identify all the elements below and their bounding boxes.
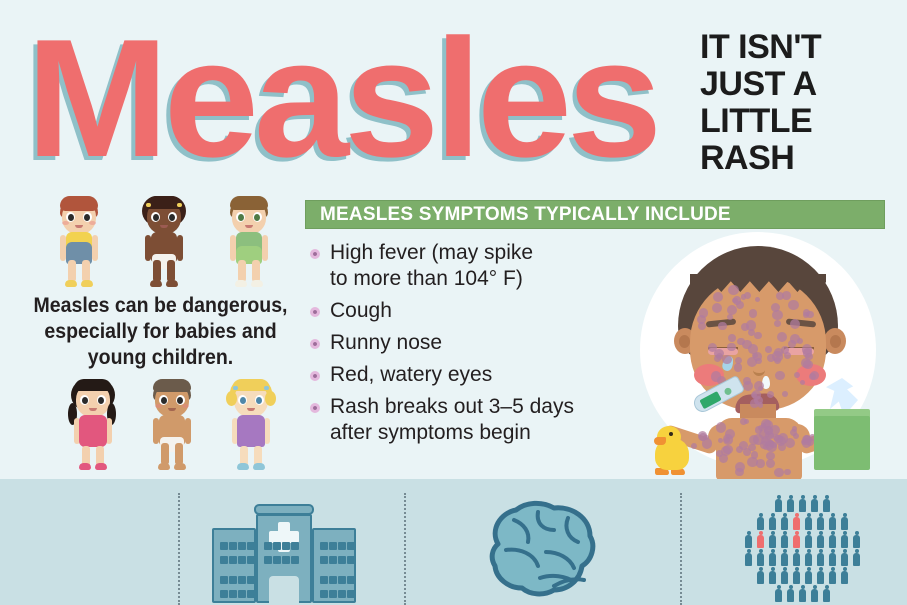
person-figure <box>775 495 782 512</box>
rash-spot <box>751 451 759 459</box>
rash-spot <box>711 371 722 382</box>
hospital-window <box>320 576 328 584</box>
person-figure <box>769 531 776 548</box>
danger-line-3: young children. <box>28 345 293 371</box>
brain-svg <box>480 500 600 600</box>
hospital-window <box>220 576 228 584</box>
title-block: Measles <box>26 18 686 183</box>
person-figure <box>841 549 848 566</box>
person-figure <box>757 531 764 548</box>
person-figure <box>799 495 806 512</box>
person-figure <box>853 531 860 548</box>
rash-spot <box>728 285 738 295</box>
hospital-window <box>347 590 355 598</box>
rash-spot <box>790 319 800 329</box>
rash-spot <box>788 300 799 311</box>
person-figure <box>781 513 788 530</box>
rash-spot <box>746 320 756 330</box>
rash-spot <box>739 441 748 450</box>
tagline-line-4: RASH <box>700 140 900 177</box>
hospital-window <box>220 590 228 598</box>
hospital-window <box>347 556 355 564</box>
hospital-window <box>220 556 228 564</box>
person-figure <box>787 585 794 602</box>
bullet-icon <box>310 307 320 317</box>
person-figure <box>745 549 752 566</box>
hospital-window <box>247 542 255 550</box>
brain-icon <box>480 500 600 600</box>
hospital-window <box>229 556 237 564</box>
rash-spot <box>756 459 765 468</box>
hospital-window <box>247 590 255 598</box>
person-figure <box>793 513 800 530</box>
hospital-window <box>320 556 328 564</box>
rash-spot <box>713 292 723 302</box>
person-figure <box>775 585 782 602</box>
rash-spot <box>754 381 764 391</box>
symptoms-banner: MEASLES SYMPTOMS TYPICALLY INCLUDE <box>305 200 885 229</box>
rash-spot <box>736 301 744 309</box>
list-item: Rash breaks out 3–5 days after symptoms … <box>308 394 608 446</box>
person-figure <box>853 549 860 566</box>
person-figure <box>817 549 824 566</box>
tagline-line-2: JUST A <box>700 66 900 103</box>
rash-spot <box>782 391 788 397</box>
hospital-window <box>338 542 346 550</box>
danger-line-1: Measles can be dangerous, <box>28 293 293 319</box>
person-figure <box>841 531 848 548</box>
rash-spot <box>794 372 800 378</box>
tagline-line-3: LITTLE <box>700 103 900 140</box>
symptom-line: Runny nose <box>330 330 608 356</box>
rash-spot <box>712 303 722 313</box>
hospital-window <box>291 542 299 550</box>
hospital-window <box>229 542 237 550</box>
children-top-row <box>48 192 280 290</box>
person-figure <box>823 495 830 512</box>
symptom-line: to more than 104° F) <box>330 266 608 292</box>
divider-3 <box>680 493 682 605</box>
person-figure <box>841 567 848 584</box>
hospital-window <box>347 576 355 584</box>
sick-child-illustration <box>618 228 903 479</box>
person-figure <box>799 585 806 602</box>
hospital-window <box>329 576 337 584</box>
hospital-window <box>247 576 255 584</box>
rash-spot <box>803 435 810 442</box>
person-figure <box>781 531 788 548</box>
bullet-icon <box>310 403 320 413</box>
person-figure <box>811 495 818 512</box>
hospital-window <box>338 590 346 598</box>
hospital-window <box>282 542 290 550</box>
hospital-window <box>347 542 355 550</box>
symptom-list: High fever (may spike to more than 104° … <box>308 240 608 452</box>
hospital-window <box>264 542 272 550</box>
rubber-duck-icon <box>653 424 693 476</box>
person-figure <box>769 513 776 530</box>
rash-spot <box>792 426 798 432</box>
hospital-window <box>247 556 255 564</box>
rash-spot <box>699 308 708 317</box>
child-girl-dark-diaper <box>133 194 195 290</box>
hospital-window <box>320 590 328 598</box>
child-boy-diaper <box>141 377 203 473</box>
bullet-icon <box>310 249 320 259</box>
bullet-icon <box>310 339 320 349</box>
person-figure <box>787 495 794 512</box>
symptoms-banner-label: MEASLES SYMPTOMS TYPICALLY INCLUDE <box>320 204 731 226</box>
person-figure <box>757 513 764 530</box>
child-ear-inner-right <box>830 335 841 348</box>
hospital-window <box>238 556 246 564</box>
rash-spot <box>803 309 810 316</box>
person-figure <box>811 585 818 602</box>
tagline: IT ISN'T JUST A LITTLE RASH <box>700 29 900 177</box>
person-figure <box>829 549 836 566</box>
divider-1 <box>178 493 180 605</box>
hospital-window <box>238 590 246 598</box>
hospital-window <box>220 542 228 550</box>
person-figure <box>805 531 812 548</box>
person-figure <box>769 549 776 566</box>
person-figure <box>817 513 824 530</box>
hospital-window <box>273 556 281 564</box>
hospital-window <box>282 556 290 564</box>
rash-spot <box>777 332 787 342</box>
rash-spot <box>752 353 757 358</box>
thermometer-tip <box>723 387 732 396</box>
person-figure <box>793 549 800 566</box>
person-figure <box>793 531 800 548</box>
hospital-window <box>338 556 346 564</box>
rash-spot <box>727 314 733 320</box>
person-figure <box>841 513 848 530</box>
danger-line-2: especially for babies and <box>28 319 293 345</box>
duck-eye <box>669 432 673 436</box>
rash-spot <box>723 434 733 444</box>
page-title: Measles <box>26 18 699 178</box>
person-figure <box>781 549 788 566</box>
hospital-roof <box>254 504 314 515</box>
tagline-line-1: IT ISN'T <box>700 29 900 66</box>
person-figure <box>793 567 800 584</box>
hospital-window <box>238 576 246 584</box>
rash-spot <box>775 371 785 381</box>
hospital-entrance <box>269 576 299 603</box>
duck-beak <box>654 437 666 445</box>
person-figure <box>781 567 788 584</box>
person-figure <box>805 549 812 566</box>
person-figure <box>817 531 824 548</box>
rash-spot <box>772 310 783 321</box>
list-item: Cough <box>308 298 608 324</box>
bullet-icon <box>310 371 320 381</box>
hospital-window <box>291 556 299 564</box>
child-boy-overalls <box>48 194 110 290</box>
rash-spot <box>754 332 762 340</box>
danger-message: Measles can be dangerous, especially for… <box>28 293 293 371</box>
top-panel: Measles IT ISN'T JUST A LITTLE RASH <box>0 0 907 479</box>
symptom-line: Cough <box>330 298 608 324</box>
person-figure <box>757 549 764 566</box>
rash-spot <box>698 322 706 330</box>
hospital-window <box>329 590 337 598</box>
rash-spot <box>774 435 782 443</box>
person-figure <box>769 567 776 584</box>
hospital-window <box>329 542 337 550</box>
person-figure <box>805 513 812 530</box>
person-figure <box>805 567 812 584</box>
child-boy-green-shirt <box>218 194 280 290</box>
rash-spot <box>750 399 759 408</box>
rash-spot <box>749 309 757 317</box>
rash-spot <box>784 469 790 475</box>
hospital-window <box>229 576 237 584</box>
rash-spot <box>718 322 726 330</box>
child-girl-blonde-purple <box>220 377 282 473</box>
hospital-window <box>320 542 328 550</box>
person-figure <box>829 513 836 530</box>
list-item: Runny nose <box>308 330 608 356</box>
person-figure <box>745 531 752 548</box>
children-bottom-row <box>62 373 282 473</box>
people-group-icon <box>740 493 870 605</box>
rash-spot <box>774 348 783 357</box>
divider-2 <box>404 493 406 605</box>
person-figure <box>829 531 836 548</box>
list-item: Red, watery eyes <box>308 362 608 388</box>
person-figure <box>829 567 836 584</box>
child-girl-braids-pink <box>62 377 124 473</box>
rash-spot <box>734 363 743 372</box>
hospital-window <box>238 542 246 550</box>
hospital-icon <box>212 500 356 603</box>
rash-spot <box>747 357 757 367</box>
symptom-line: after symptoms begin <box>330 420 608 446</box>
rash-spot <box>765 346 772 353</box>
rash-spot <box>803 348 812 357</box>
rash-spot <box>714 355 721 362</box>
hospital-window <box>329 556 337 564</box>
rash-spot <box>800 380 805 385</box>
hospital-window <box>229 590 237 598</box>
symptom-line: Red, watery eyes <box>330 362 608 388</box>
person-figure <box>817 567 824 584</box>
hospital-window <box>264 556 272 564</box>
list-item: High fever (may spike to more than 104° … <box>308 240 608 292</box>
infographic-page: Measles IT ISN'T JUST A LITTLE RASH <box>0 0 907 605</box>
hospital-window <box>273 542 281 550</box>
person-figure <box>823 585 830 602</box>
tissue-box-icon <box>814 416 870 470</box>
person-figure <box>757 567 764 584</box>
hospital-window <box>338 576 346 584</box>
rash-spot <box>722 355 732 365</box>
rash-spot <box>810 371 819 380</box>
symptom-line: High fever (may spike <box>330 240 608 266</box>
child-ear-inner-left <box>679 335 690 348</box>
symptom-line: Rash breaks out 3–5 days <box>330 394 608 420</box>
